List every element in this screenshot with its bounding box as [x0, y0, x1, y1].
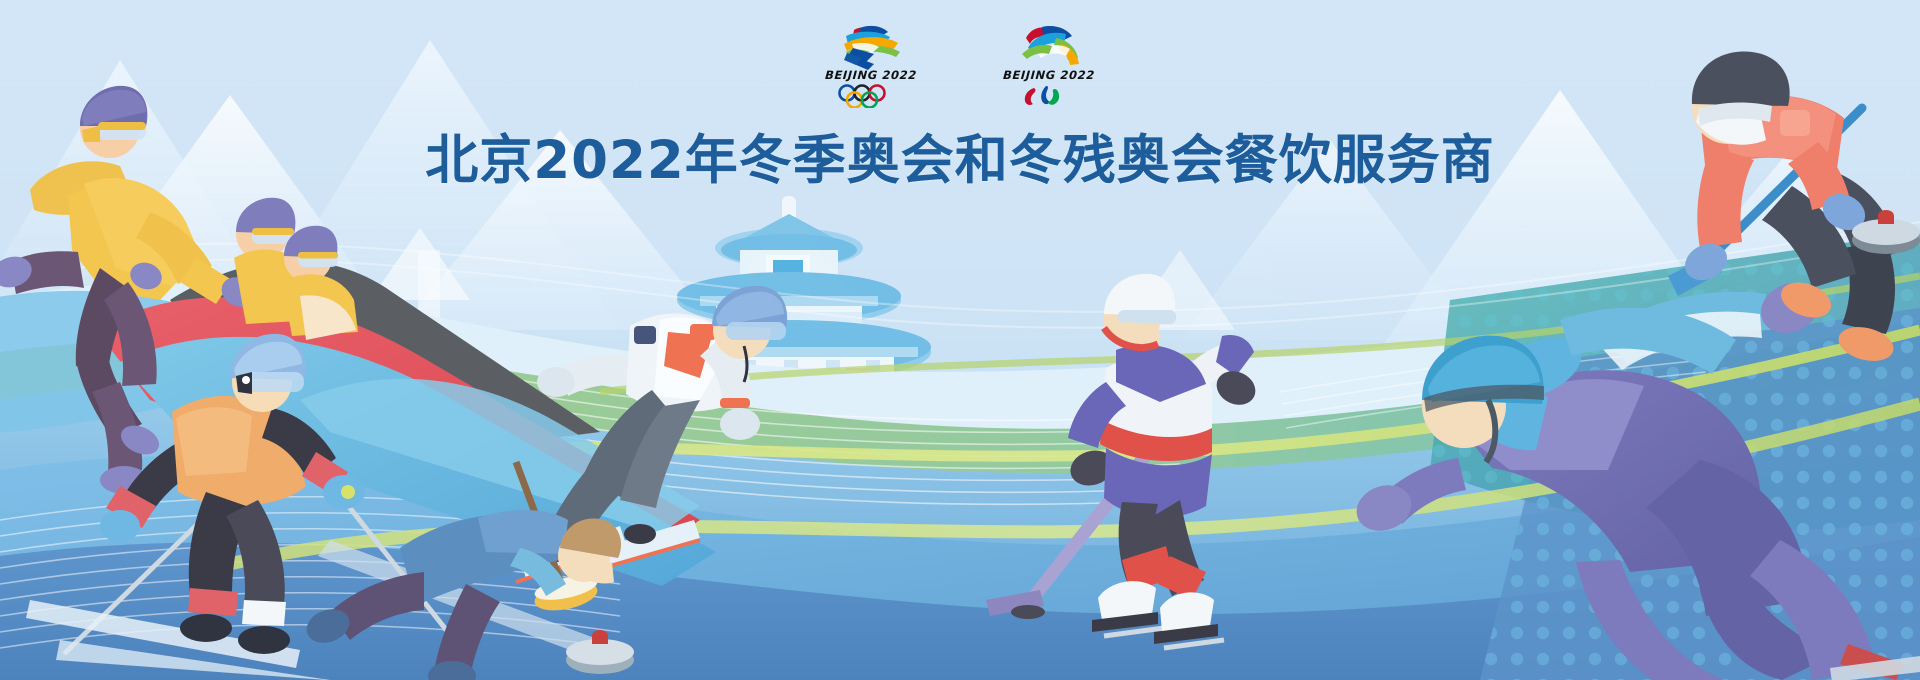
speed-skater — [1350, 274, 1920, 680]
paralympic-emblem: BEIJING 2022 — [984, 24, 1114, 116]
emblem-group: BEIJING 2022 — [690, 24, 1230, 114]
olympic-wordmark: BEIJING 2022 — [806, 68, 937, 82]
olympic-emblem-symbol — [834, 24, 908, 70]
flying-high-emblem-icon — [984, 24, 1114, 70]
olympic-emblem: BEIJING 2022 — [806, 24, 936, 116]
olympic-rings-icon — [806, 84, 936, 108]
olympics-banner: BEIJING 2022 — [0, 0, 1920, 680]
winter-dream-emblem-icon — [806, 24, 936, 70]
paralympic-emblem-symbol — [1012, 24, 1086, 70]
paralympic-wordmark: BEIJING 2022 — [984, 68, 1115, 82]
agitos-icon — [984, 84, 1114, 108]
ice-hockey-player — [986, 274, 1261, 648]
